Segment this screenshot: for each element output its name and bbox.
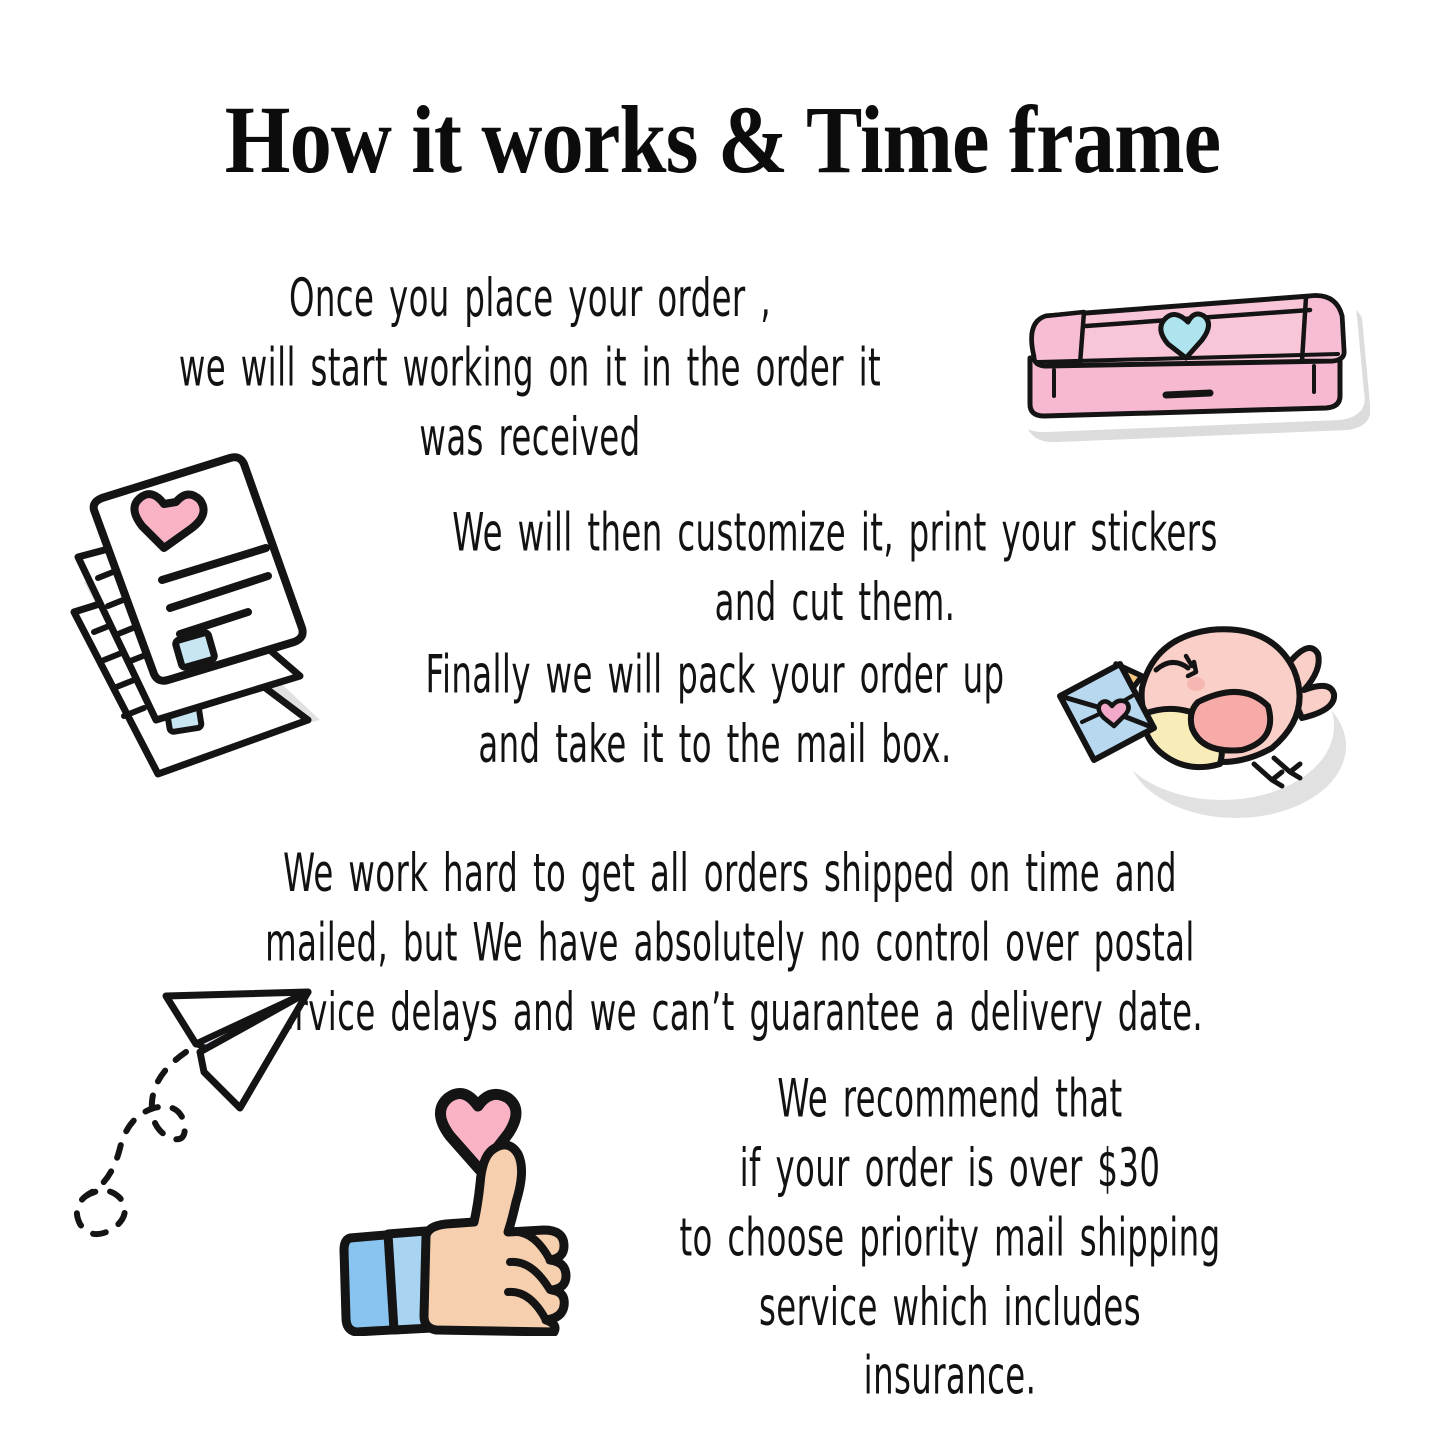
bird-with-envelope-illustration <box>1046 614 1366 819</box>
page-title: How it works & Time frame <box>87 92 1359 188</box>
step-1-text: Once you place your order , we will star… <box>170 264 890 472</box>
infographic-page: How it works & Time frame Once you place… <box>0 0 1445 1445</box>
thumbs-up-illustration <box>328 1078 618 1336</box>
step-3-text: Finally we will pack your order up and t… <box>383 640 1047 779</box>
paper-airplane-illustration <box>58 966 348 1246</box>
shipping-note-text: We work hard to get all orders shipped o… <box>242 839 1218 1047</box>
paper-stack-illustration <box>52 452 352 802</box>
cutting-machine-illustration <box>988 266 1370 448</box>
recommendation-text: We recommend that if your order is over … <box>670 1064 1230 1411</box>
